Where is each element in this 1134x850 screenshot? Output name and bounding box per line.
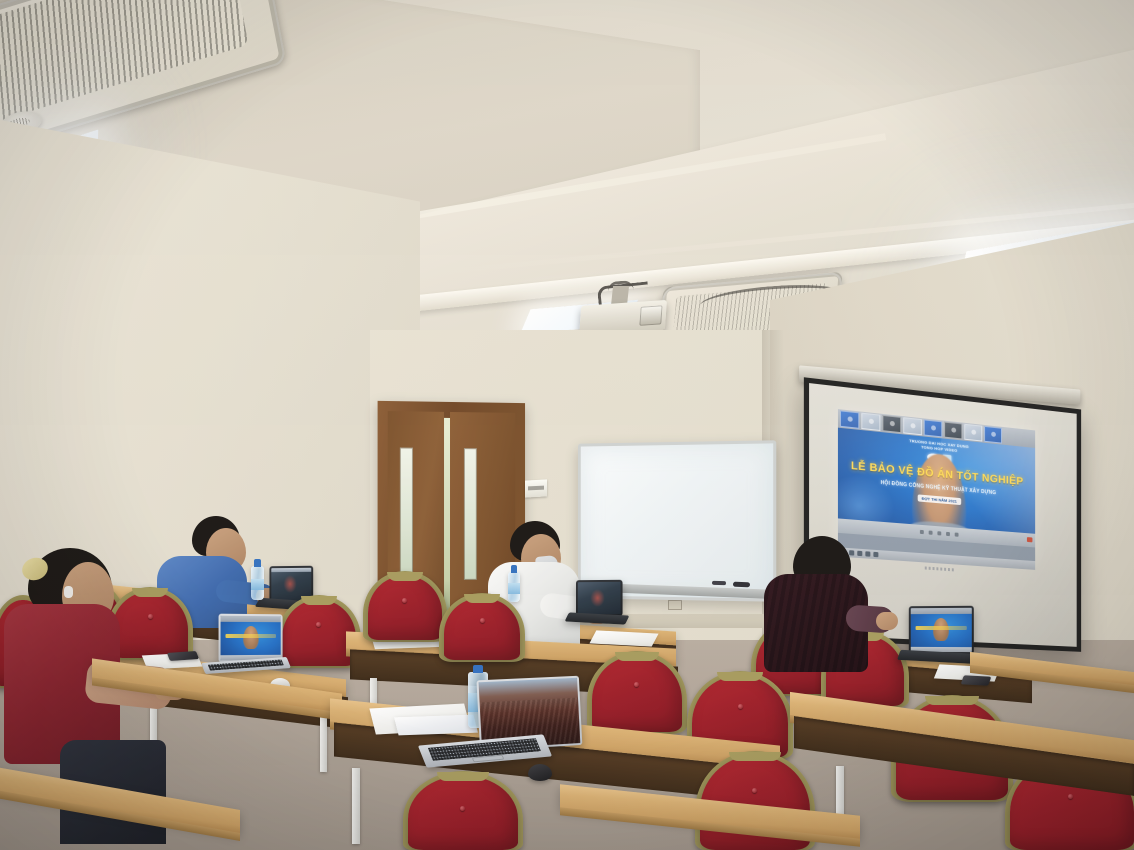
water-bottle-1[interactable] — [251, 566, 264, 600]
toolbar-icon[interactable] — [946, 532, 950, 536]
screen-video-conference — [221, 616, 281, 661]
toolbar-icon[interactable] — [937, 531, 941, 535]
status-dot — [940, 567, 942, 570]
screen-wallpaper — [578, 582, 621, 614]
status-dot — [944, 567, 946, 570]
participant-thumbnail — [964, 424, 982, 442]
laptop-screen — [578, 582, 621, 614]
mouse-dark[interactable] — [528, 764, 552, 781]
desk-leg — [320, 712, 327, 772]
status-dot — [952, 568, 954, 571]
participant-thumbnail — [861, 413, 880, 431]
status-dot — [936, 567, 938, 570]
door-glass-panel-right — [464, 448, 477, 580]
whiteboard — [578, 440, 776, 601]
record-indicator-icon — [1027, 537, 1033, 542]
chair-left-mid-1[interactable] — [112, 592, 188, 658]
chair-center-mid-2[interactable] — [444, 598, 520, 660]
slide-title-line — [225, 634, 276, 638]
participant-thumbnail — [903, 417, 922, 435]
desk-leg — [352, 768, 360, 844]
taskbar-icon — [849, 550, 854, 555]
status-dot — [933, 566, 935, 569]
chair-center-mid-1[interactable] — [368, 576, 442, 640]
toolbar-icon[interactable] — [929, 531, 933, 535]
slide-title-line — [916, 626, 967, 630]
wall-outlet-icon — [668, 600, 682, 610]
participant-thumbnail — [882, 415, 901, 433]
wall-sign — [525, 479, 547, 497]
taskbar-icon — [857, 551, 862, 556]
whiteboard-marker-2-icon[interactable] — [712, 581, 726, 585]
screen-video-conference — [911, 608, 972, 652]
whiteboard-marker-icon[interactable] — [733, 582, 750, 588]
participant-thumbnail — [984, 426, 1002, 444]
screen-menu-bar — [271, 568, 311, 572]
projected-conference-window: TRUONG DAI HOC XAY DUNG TONG HOP VIDEO L… — [838, 409, 1035, 561]
participant-thumbnail — [944, 422, 962, 440]
hand — [876, 612, 898, 630]
earbud-icon — [64, 586, 73, 598]
taskbar-icon — [873, 552, 878, 557]
projected-slide: TRUONG DAI HOC XAY DUNG TONG HOP VIDEO L… — [838, 428, 1035, 548]
status-dot — [948, 568, 950, 571]
chair-left-mid-2[interactable] — [282, 600, 356, 666]
chair-front-1[interactable] — [408, 776, 518, 850]
screen-menu-bar — [911, 608, 972, 614]
phone[interactable] — [961, 675, 992, 685]
status-dot — [929, 566, 931, 569]
laptop-black-center[interactable] — [576, 580, 623, 616]
status-dot — [925, 566, 927, 569]
laptop-lid — [219, 614, 283, 663]
classroom-photo: Graduation thesis defense session in a c… — [0, 0, 1134, 850]
chair-center-mid-3[interactable] — [592, 656, 682, 732]
laptop-screen — [221, 616, 281, 661]
laptop-conference-left[interactable] — [219, 614, 283, 663]
laptop-lid — [909, 606, 974, 654]
toolbar-icon[interactable] — [920, 530, 924, 534]
participant-thumbnail — [840, 410, 859, 428]
laptop-right[interactable] — [909, 606, 974, 654]
door-glass-panel-left — [400, 447, 413, 580]
laptop-lid — [576, 580, 623, 616]
screen-menu-bar — [221, 616, 281, 623]
laptop-screen — [911, 608, 972, 652]
participant-thumbnail — [924, 419, 942, 437]
taskbar-icon — [865, 551, 870, 556]
papers-6[interactable] — [394, 715, 478, 736]
toolbar-icon[interactable] — [955, 533, 959, 537]
